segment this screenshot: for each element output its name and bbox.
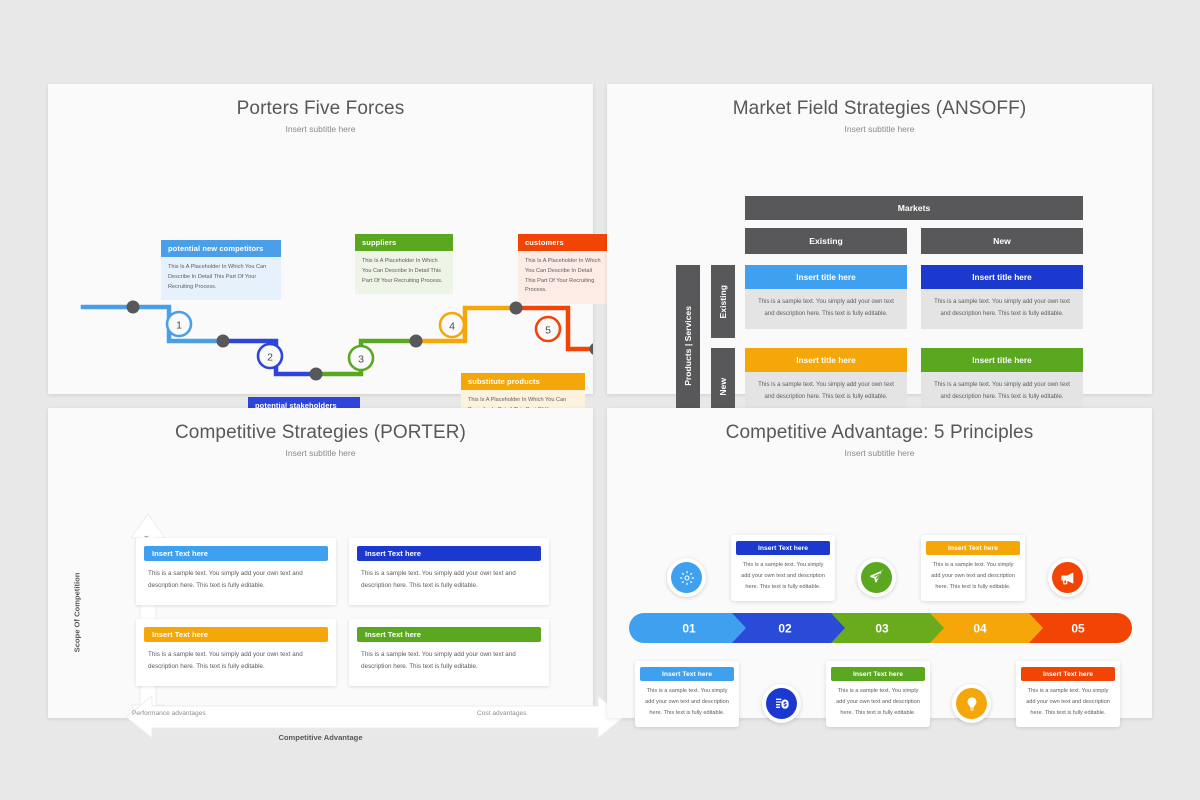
principle-card-body: This is a sample text. You simply add yo… bbox=[1021, 681, 1115, 719]
svg-text:5: 5 bbox=[545, 325, 551, 337]
page-title: Competitive Strategies (PORTER) bbox=[48, 408, 593, 444]
ansoff-cell-body: This is a sample text. You simply add yo… bbox=[921, 372, 1083, 412]
principle-card-04[interactable]: Insert Text here This is a sample text. … bbox=[921, 535, 1025, 601]
megaphone-icon-badge[interactable] bbox=[1048, 558, 1087, 597]
ansoff-cell-market-development[interactable]: Insert title here This is a sample text.… bbox=[921, 265, 1083, 329]
ansoff-cell-title: Insert title here bbox=[921, 265, 1083, 289]
strategy-card-title: Insert Text here bbox=[144, 546, 328, 561]
chevron-02-number: 02 bbox=[778, 622, 792, 636]
node-dot bbox=[310, 368, 323, 381]
strategy-card-focus-cost[interactable]: Insert Text here This is a sample text. … bbox=[349, 619, 549, 686]
gear-icon-badge[interactable] bbox=[667, 558, 706, 597]
node-dot bbox=[410, 335, 423, 348]
slide-market-field-strategies-ansoff[interactable]: Market Field Strategies (ANSOFF) Insert … bbox=[607, 84, 1152, 394]
principle-card-body: This is a sample text. You simply add yo… bbox=[736, 555, 830, 593]
slide-board: Porters Five Forces Insert subtitle here… bbox=[0, 0, 1200, 800]
strategy-card-differentiation[interactable]: Insert Text here This is a sample text. … bbox=[136, 538, 336, 605]
step-node-3: 3 bbox=[349, 346, 373, 370]
ansoff-cell-product-development[interactable]: Insert title here This is a sample text.… bbox=[745, 348, 907, 412]
strategy-card-body: This is a sample text. You simply add yo… bbox=[144, 642, 328, 674]
strategy-card-title: Insert Text here bbox=[357, 627, 541, 642]
principle-card-title: Insert Text here bbox=[831, 667, 925, 681]
megaphone-icon bbox=[1052, 562, 1083, 593]
principle-card-01[interactable]: Insert Text here This is a sample text. … bbox=[635, 661, 739, 727]
ansoff-cell-title: Insert title here bbox=[745, 265, 907, 289]
ansoff-row-existing: Existing bbox=[711, 265, 735, 338]
principle-card-02[interactable]: Insert Text here This is a sample text. … bbox=[731, 535, 835, 601]
step-node-4: 4 bbox=[440, 313, 464, 337]
x-axis-right-label: Cost advantages bbox=[477, 710, 527, 717]
chevron-01-number: 01 bbox=[682, 622, 696, 636]
x-axis-label: Competitive Advantage bbox=[48, 733, 593, 742]
page-subtitle: Insert subtitle here bbox=[48, 448, 593, 458]
paper-plane-icon-badge[interactable] bbox=[857, 558, 896, 597]
principle-card-title: Insert Text here bbox=[926, 541, 1020, 555]
slide-porters-five-forces[interactable]: Porters Five Forces Insert subtitle here… bbox=[48, 84, 593, 394]
page-title: Market Field Strategies (ANSOFF) bbox=[607, 84, 1152, 120]
ansoff-row-new-text: New bbox=[718, 378, 728, 396]
node-dot bbox=[217, 335, 230, 348]
strategy-card-title: Insert Text here bbox=[144, 627, 328, 642]
chevron-05-number: 05 bbox=[1071, 622, 1085, 636]
strategy-card-cost-leadership[interactable]: Insert Text here This is a sample text. … bbox=[349, 538, 549, 605]
strategy-card-focus-differentiation[interactable]: Insert Text here This is a sample text. … bbox=[136, 619, 336, 686]
page-subtitle: Insert subtitle here bbox=[607, 448, 1152, 458]
node-dot bbox=[510, 302, 523, 315]
ansoff-row-axis-text: Products | Services bbox=[683, 306, 693, 386]
ansoff-cell-title: Insert title here bbox=[921, 348, 1083, 372]
lightbulb-icon bbox=[956, 688, 987, 719]
node-dot bbox=[127, 301, 140, 314]
ansoff-row-existing-text: Existing bbox=[718, 285, 728, 318]
ansoff-cell-body: This is a sample text. You simply add yo… bbox=[921, 289, 1083, 329]
chevron-step-band: 01 02 03 04 05 bbox=[629, 613, 1132, 643]
page-title: Competitive Advantage: 5 Principles bbox=[607, 408, 1152, 444]
principle-card-title: Insert Text here bbox=[736, 541, 830, 555]
strategy-card-body: This is a sample text. You simply add yo… bbox=[144, 561, 328, 593]
ansoff-markets-header: Markets bbox=[745, 196, 1083, 220]
svg-text:1: 1 bbox=[176, 320, 182, 332]
y-axis-label: Scope Of Competition bbox=[73, 563, 82, 663]
step-node-1: 1 bbox=[167, 312, 191, 336]
ansoff-cell-market-penetration[interactable]: Insert title here This is a sample text.… bbox=[745, 265, 907, 329]
money-document-icon bbox=[766, 688, 797, 719]
principle-card-body: This is a sample text. You simply add yo… bbox=[831, 681, 925, 719]
principle-card-03[interactable]: Insert Text here This is a sample text. … bbox=[826, 661, 930, 727]
svg-text:4: 4 bbox=[449, 321, 455, 333]
ansoff-cell-body: This is a sample text. You simply add yo… bbox=[745, 372, 907, 412]
strategy-card-title: Insert Text here bbox=[357, 546, 541, 561]
svg-text:2: 2 bbox=[267, 352, 273, 364]
ansoff-column-existing: Existing bbox=[745, 228, 907, 254]
chevron-04-number: 04 bbox=[973, 622, 987, 636]
chevron-03-number: 03 bbox=[875, 622, 889, 636]
slide-competitive-advantage-5-principles[interactable]: Competitive Advantage: 5 Principles Inse… bbox=[607, 408, 1152, 718]
slide-competitive-strategies-porter[interactable]: Competitive Strategies (PORTER) Insert s… bbox=[48, 408, 593, 718]
node-dot bbox=[590, 343, 594, 356]
svg-text:3: 3 bbox=[358, 354, 364, 366]
principle-card-body: This is a sample text. You simply add yo… bbox=[926, 555, 1020, 593]
page-subtitle: Insert subtitle here bbox=[607, 124, 1152, 134]
ansoff-row-axis-label: Products | Services bbox=[676, 265, 700, 426]
principle-card-title: Insert Text here bbox=[1021, 667, 1115, 681]
x-axis-left-label: Performance advantages bbox=[132, 710, 206, 717]
ansoff-cell-diversification[interactable]: Insert title here This is a sample text.… bbox=[921, 348, 1083, 412]
principle-card-title: Insert Text here bbox=[640, 667, 734, 681]
strategy-card-body: This is a sample text. You simply add yo… bbox=[357, 642, 541, 674]
horizontal-axis-arrow-icon bbox=[126, 696, 624, 738]
five-forces-step-diagram: 1 2 3 4 5 bbox=[48, 84, 593, 394]
gear-icon bbox=[671, 562, 702, 593]
step-node-5: 5 bbox=[536, 317, 560, 341]
ansoff-cell-title: Insert title here bbox=[745, 348, 907, 372]
ansoff-cell-body: This is a sample text. You simply add yo… bbox=[745, 289, 907, 329]
strategy-card-body: This is a sample text. You simply add yo… bbox=[357, 561, 541, 593]
ansoff-column-new: New bbox=[921, 228, 1083, 254]
principle-card-body: This is a sample text. You simply add yo… bbox=[640, 681, 734, 719]
step-node-2: 2 bbox=[258, 344, 282, 368]
money-document-icon-badge[interactable] bbox=[762, 684, 801, 723]
lightbulb-icon-badge[interactable] bbox=[952, 684, 991, 723]
principle-card-05[interactable]: Insert Text here This is a sample text. … bbox=[1016, 661, 1120, 727]
paper-plane-icon bbox=[861, 562, 892, 593]
